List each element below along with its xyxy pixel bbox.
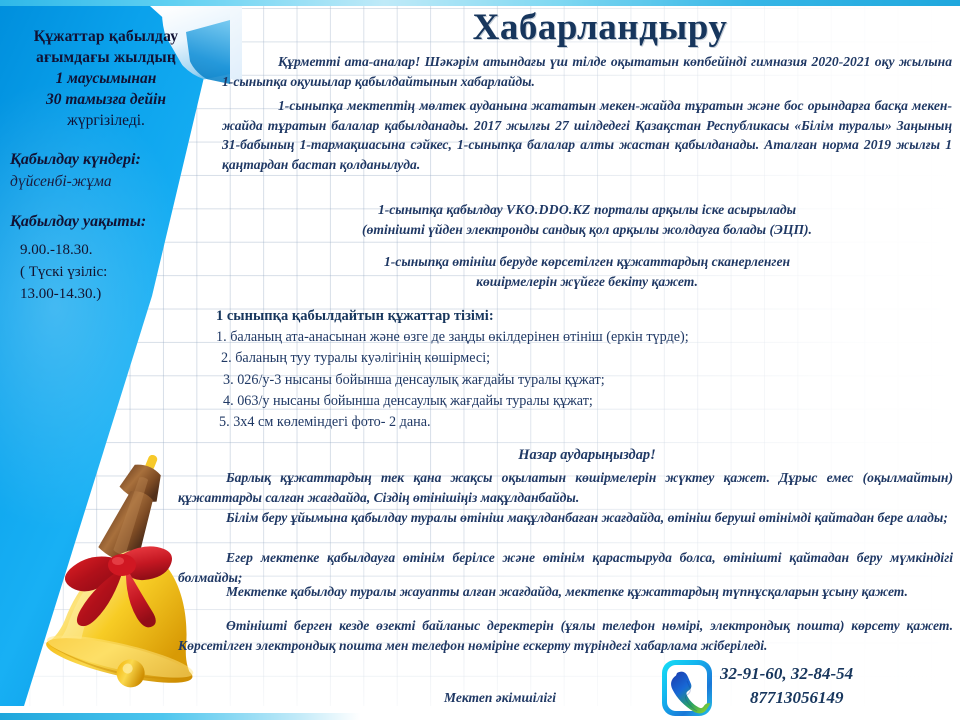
documents-list-title: 1 сыныпқа қабылдайтын құжаттар тізімі: — [216, 308, 494, 325]
intro-paragraph: Құрметті ата-аналар! Шәкәрім атындағы үш… — [222, 52, 952, 91]
banner-headline-line-2: ағымдағы жылдың — [8, 47, 204, 68]
list-item: 2. баланың туу туралы куәлігінің көшірме… — [216, 348, 776, 369]
list-item: 3. 026/у-3 нысаны бойынша денсаулық жағд… — [216, 370, 776, 391]
reception-days-label: Қабылдау күндері: — [0, 149, 212, 171]
attention-note-4: Мектепке қабылдау туралы жауапты алған ж… — [178, 582, 953, 602]
contact-phones: 32-91-60, 32-84-54 87713056149 — [720, 662, 950, 710]
phone-handset-icon — [660, 657, 714, 719]
portal-name: VKO.DDO.KZ — [506, 202, 591, 217]
scan-line-1: 1-сыныпқа өтініш беруде көрсетілген құжа… — [384, 254, 790, 269]
banner-headline-line-4: 30 тамызға дейін — [8, 89, 204, 110]
attention-note-2: Білім беру ұйымына қабылдау туралы өтіні… — [178, 508, 953, 528]
reception-hours-value: 9.00.-18.30. — [0, 239, 212, 261]
greeting-text: Құрметті ата-аналар! — [278, 54, 420, 69]
documents-list: 1. баланың ата-анасынан және өзге де заң… — [216, 327, 776, 433]
banner-headline-line-3: 1 маусымынан — [8, 68, 204, 89]
banner-headline-line-1: Құжаттар қабылдау — [8, 26, 204, 47]
list-item: 5. 3х4 см көлеміндегі фото- 2 дана. — [216, 412, 776, 433]
phone-line-1: 32-91-60, 32-84-54 — [720, 662, 950, 686]
bottom-accent-bar — [0, 713, 360, 720]
attention-heading: Назар аударыңыздар! — [222, 447, 952, 464]
signature-text: Мектеп әкімшілігі — [370, 690, 630, 706]
lunch-break-line-1: ( Түскі үзіліс: — [0, 261, 212, 283]
announcement-poster: Құжаттар қабылдау ағымдағы жылдың 1 маус… — [0, 0, 960, 720]
reception-days-value: дүйсенбі-жұма — [0, 171, 212, 193]
page-title: Хабарландыру — [250, 6, 950, 49]
scan-paragraph: 1-сыныпқа өтініш беруде көрсетілген құжа… — [222, 252, 952, 291]
phone-line-2: 87713056149 — [720, 686, 950, 710]
lunch-break-line-2: 13.00-14.30.) — [0, 283, 212, 305]
portal-eds-line: (өтінішті үйден электронды сандық қол ар… — [362, 222, 812, 237]
list-item: 4. 063/у нысаны бойынша денсаулық жағдай… — [216, 391, 776, 412]
banner-headline-line-5: жүргізіледі. — [8, 110, 204, 131]
attention-note-5: Өтінішті берген кезде өзекті байланыс де… — [178, 616, 953, 655]
reception-hours-label: Қабылдау уақыты: — [0, 211, 212, 233]
portal-lead-text: 1-сыныпқа қабылдау — [378, 202, 506, 217]
scan-line-2: көшірмелерін жүйеге бекіту қажет. — [476, 274, 698, 289]
portal-trail-text: порталы арқылы іске асырылады — [591, 202, 796, 217]
list-item: 1. баланың ата-анасынан және өзге де заң… — [216, 327, 776, 348]
portal-paragraph: 1-сыныпқа қабылдау VKO.DDO.KZ порталы ар… — [222, 200, 952, 239]
banner-text-block: Құжаттар қабылдау ағымдағы жылдың 1 маус… — [0, 26, 212, 305]
paragraph-2: 1-сыныпқа мектептің мөлтек ауданына жата… — [222, 96, 952, 174]
attention-note-1: Барлық құжаттардың тек қана жақсы оқылат… — [178, 468, 953, 507]
